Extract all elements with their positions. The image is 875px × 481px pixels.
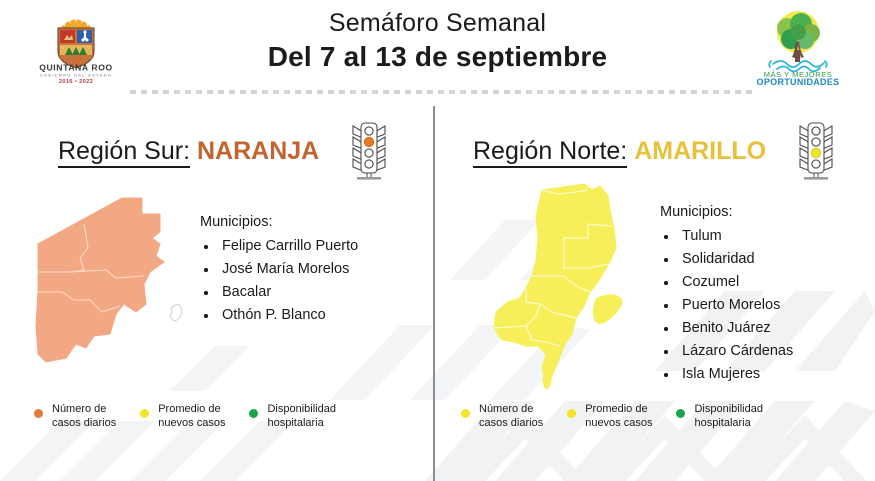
region-color-word-sur: NARANJA <box>197 137 319 165</box>
list-item: Othón P. Blanco <box>200 304 358 327</box>
legend-dot-icon <box>140 409 149 418</box>
legend-label: Número de casos diarios <box>52 402 116 430</box>
region-color-word-norte: AMARILLO <box>634 137 766 165</box>
list-item: Solidaridad <box>660 248 793 271</box>
list-item: Bacalar <box>200 281 358 304</box>
legend-label: Promedio de nuevos casos <box>585 402 652 430</box>
legend-disponibilidad-hospitalaria: Disponibilidad hospitalaria <box>676 402 763 430</box>
list-item: Lázaro Cárdenas <box>660 340 793 363</box>
municipios-title-norte: Municipios: <box>660 204 793 220</box>
legend-label: Disponibilidad hospitalaria <box>694 402 763 430</box>
region-header-norte: Región Norte: AMARILLO <box>473 120 840 182</box>
legend-promedio-nuevos-casos: Promedio de nuevos casos <box>140 402 225 430</box>
region-panel-norte: Región Norte: AMARILLO <box>435 106 875 481</box>
legend-casos-diarios: Número de casos diarios <box>461 402 543 430</box>
legend-sur: Número de casos diarios Promedio de nuev… <box>34 402 360 430</box>
legend-label: Promedio de nuevos casos <box>158 402 225 430</box>
list-item: Puerto Morelos <box>660 294 793 317</box>
legend-dot-icon <box>567 409 576 418</box>
legend-promedio-nuevos-casos: Promedio de nuevos casos <box>567 402 652 430</box>
municipios-norte: Municipios: Tulum Solidaridad Cozumel Pu… <box>660 204 793 386</box>
traffic-light-yellow-icon <box>792 120 840 182</box>
region-panel-sur: Región Sur: NARANJA <box>0 106 433 481</box>
legend-label: Disponibilidad hospitalaria <box>267 402 336 430</box>
page-title: Semáforo Semanal Del 7 al 13 de septiemb… <box>0 8 875 75</box>
list-item: Tulum <box>660 225 793 248</box>
region-label-sur: Región Sur: <box>58 137 190 168</box>
list-item: Isla Mujeres <box>660 363 793 386</box>
municipios-list-norte: Tulum Solidaridad Cozumel Puerto Morelos… <box>660 225 793 386</box>
map-region-sur <box>24 186 204 381</box>
list-item: Benito Juárez <box>660 317 793 340</box>
legend-dot-icon <box>249 409 258 418</box>
list-item: Cozumel <box>660 271 793 294</box>
list-item: Felipe Carrillo Puerto <box>200 235 358 258</box>
svg-text:2016 • 2022: 2016 • 2022 <box>59 79 93 84</box>
map-region-norte <box>480 176 670 391</box>
svg-text:OPORTUNIDADES: OPORTUNIDADES <box>757 77 840 86</box>
legend-dot-icon <box>676 409 685 418</box>
municipios-sur: Municipios: Felipe Carrillo Puerto José … <box>200 214 358 327</box>
legend-dot-icon <box>461 409 470 418</box>
title-line-2: Del 7 al 13 de septiembre <box>0 39 875 75</box>
region-label-norte: Región Norte: <box>473 137 627 168</box>
legend-casos-diarios: Número de casos diarios <box>34 402 116 430</box>
municipios-list-sur: Felipe Carrillo Puerto José María Morelo… <box>200 235 358 327</box>
region-header-sur: Región Sur: NARANJA <box>58 120 393 182</box>
legend-norte: Número de casos diarios Promedio de nuev… <box>461 402 787 430</box>
legend-label: Número de casos diarios <box>479 402 543 430</box>
dashed-separator <box>130 90 756 94</box>
infographic-page: QUINTANA ROO GOBIERNO DEL ESTADO 2016 • … <box>0 0 875 481</box>
list-item: José María Morelos <box>200 258 358 281</box>
legend-disponibilidad-hospitalaria: Disponibilidad hospitalaria <box>249 402 336 430</box>
traffic-light-orange-icon <box>345 120 393 182</box>
title-line-1: Semáforo Semanal <box>0 8 875 39</box>
legend-dot-icon <box>34 409 43 418</box>
municipios-title-sur: Municipios: <box>200 214 358 230</box>
